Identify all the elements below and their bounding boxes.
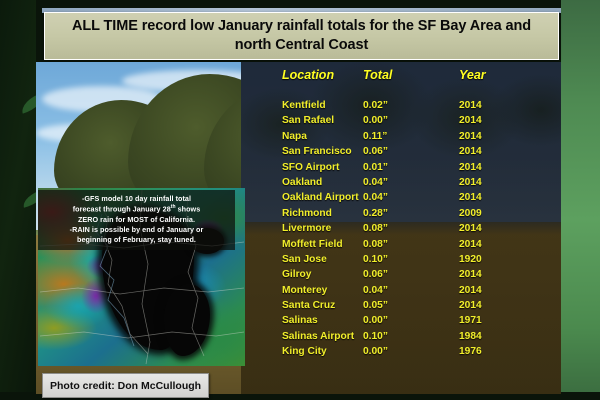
cell-location: Richmond: [245, 208, 363, 219]
column-header-total: Total: [363, 68, 459, 82]
cell-year: 2014: [459, 115, 519, 126]
cell-total: 0.02”: [363, 100, 459, 111]
cell-location: Moffett Field: [245, 239, 363, 250]
table-row: Moffett Field0.08”2014: [245, 239, 561, 254]
forecast-note-line-2a: forecast through January 28: [73, 205, 171, 214]
table-header-spacer: [245, 88, 561, 100]
forecast-note-line-1: -GFS model 10 day rainfall total: [44, 194, 229, 204]
cell-location: Napa: [245, 131, 363, 142]
table-row: Oakland0.04”2014: [245, 177, 561, 192]
table-row: Richmond0.28”2009: [245, 208, 561, 223]
photo-credit-box: Photo credit: Don McCullough: [42, 373, 209, 398]
table-header-row: Location Total Year: [245, 62, 561, 88]
cell-year: 2014: [459, 177, 519, 188]
cell-total: 0.08”: [363, 223, 459, 234]
cell-year: 2014: [459, 300, 519, 311]
cell-total: 0.10”: [363, 254, 459, 265]
cell-total: 0.00”: [363, 346, 459, 357]
cell-year: 1976: [459, 346, 519, 357]
column-header-year: Year: [459, 68, 519, 82]
cell-location: Oakland Airport: [245, 192, 363, 203]
cell-total: 0.04”: [363, 177, 459, 188]
title-box: ALL TIME record low January rainfall tot…: [44, 12, 559, 60]
page-title: ALL TIME record low January rainfall tot…: [55, 17, 548, 54]
table-row: San Jose0.10”1920: [245, 254, 561, 269]
cell-total: 0.06”: [363, 146, 459, 157]
table-row: Santa Cruz0.05”2014: [245, 300, 561, 315]
table-row: SFO Airport0.01”2014: [245, 162, 561, 177]
slide-canvas: ALL TIME record low January rainfall tot…: [0, 0, 600, 400]
cell-total: 0.00”: [363, 315, 459, 326]
cell-location: King City: [245, 346, 363, 357]
cell-location: Monterey: [245, 285, 363, 296]
frame-right-border: [561, 0, 600, 400]
forecast-note-line-2b: shows: [176, 205, 201, 214]
table-row: Salinas0.00”1971: [245, 315, 561, 330]
table-row: Kentfield0.02”2014: [245, 100, 561, 115]
cell-total: 0.28”: [363, 208, 459, 219]
cell-location: San Francisco: [245, 146, 363, 157]
cell-year: 2014: [459, 285, 519, 296]
cell-location: SFO Airport: [245, 162, 363, 173]
cell-year: 2014: [459, 223, 519, 234]
forecast-note-line-2: forecast through January 28th shows: [44, 204, 229, 215]
table-row: Salinas Airport0.10”1984: [245, 331, 561, 346]
cell-location: Salinas Airport: [245, 331, 363, 342]
cell-total: 0.10”: [363, 331, 459, 342]
cell-year: 2014: [459, 131, 519, 142]
cell-total: 0.01”: [363, 162, 459, 173]
cell-year: 2014: [459, 192, 519, 203]
cell-total: 0.04”: [363, 192, 459, 203]
cell-location: Salinas: [245, 315, 363, 326]
cell-location: Santa Cruz: [245, 300, 363, 311]
cell-year: 2014: [459, 100, 519, 111]
table-row: Oakland Airport0.04”2014: [245, 192, 561, 207]
cell-location: Livermore: [245, 223, 363, 234]
cell-location: San Jose: [245, 254, 363, 265]
cell-year: 2014: [459, 162, 519, 173]
cell-total: 0.00”: [363, 115, 459, 126]
cell-year: 2014: [459, 146, 519, 157]
cell-location: San Rafael: [245, 115, 363, 126]
photo-credit-label: Photo credit: Don McCullough: [50, 380, 201, 392]
cell-year: 1920: [459, 254, 519, 265]
cell-year: 2014: [459, 239, 519, 250]
forecast-note-line-3: ZERO rain for MOST of California.: [44, 215, 229, 225]
cell-year: 2014: [459, 269, 519, 280]
table-row: Monterey0.04”2014: [245, 285, 561, 300]
cell-location: Kentfield: [245, 100, 363, 111]
cell-total: 0.05”: [363, 300, 459, 311]
cell-year: 1984: [459, 331, 519, 342]
table-row: San Francisco0.06”2014: [245, 146, 561, 161]
forecast-note-line-4: -RAIN is possible by end of January or: [44, 225, 229, 235]
forecast-note-box: -GFS model 10 day rainfall total forecas…: [38, 190, 235, 250]
cell-year: 1971: [459, 315, 519, 326]
table-row: King City0.00”1976: [245, 346, 561, 361]
table-body: Kentfield0.02”2014San Rafael0.00”2014Nap…: [245, 100, 561, 362]
cell-total: 0.04”: [363, 285, 459, 296]
column-header-location: Location: [245, 68, 363, 82]
cell-total: 0.11”: [363, 131, 459, 142]
rainfall-records-table: Location Total Year Kentfield0.02”2014Sa…: [245, 62, 561, 394]
forecast-note-line-5: beginning of February, stay tuned.: [44, 235, 229, 245]
cell-location: Oakland: [245, 177, 363, 188]
table-row: Gilroy0.06”2014: [245, 269, 561, 284]
cell-location: Gilroy: [245, 269, 363, 280]
cell-year: 2009: [459, 208, 519, 219]
table-row: Napa0.11”2014: [245, 131, 561, 146]
table-row: San Rafael0.00”2014: [245, 115, 561, 130]
table-row: Livermore0.08”2014: [245, 223, 561, 238]
cell-total: 0.06”: [363, 269, 459, 280]
cell-total: 0.08”: [363, 239, 459, 250]
